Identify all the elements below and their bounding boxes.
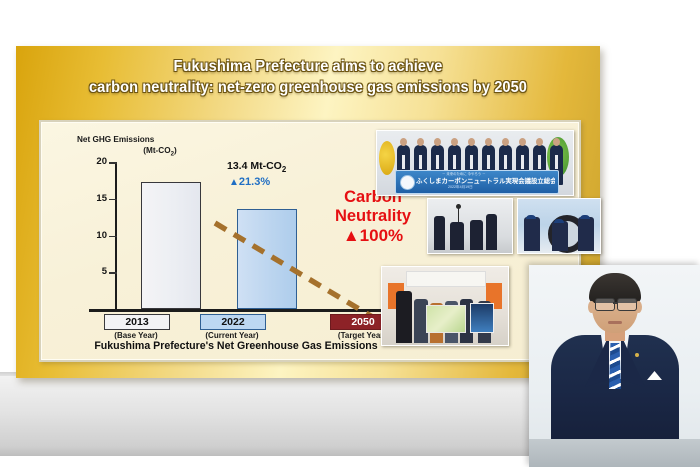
x-category-2022: 2022 <box>200 314 266 330</box>
y-axis-label-line1: Net GHG Emissions <box>77 134 237 145</box>
wall-banner <box>406 271 486 287</box>
speaker-mouth <box>608 321 622 324</box>
page-title: Fukushima Prefecture aims to achieve car… <box>34 56 583 98</box>
photo-person <box>396 291 412 343</box>
x-category-2013: 2013 <box>104 314 170 330</box>
hard-hat-icon <box>554 219 564 223</box>
photo-person <box>524 217 540 251</box>
carbon-neutrality-callout: Carbon Neutrality ▲100% <box>319 188 427 245</box>
speaker-tie <box>609 343 621 389</box>
y-tick-label-15: 15 <box>75 193 107 204</box>
y-tick-5 <box>109 272 117 274</box>
callout-line-3: ▲100% <box>319 226 427 245</box>
speaker-video-overlay[interactable] <box>529 265 700 467</box>
hard-hat-icon <box>580 215 590 219</box>
reduction-badge-2022: ▲21.3% <box>229 176 349 188</box>
slide-header: Fukushima Prefecture aims to achieve car… <box>16 46 600 114</box>
speaker-desk <box>529 439 700 467</box>
chart-caption: Fukushima Prefecture's Net Greenhouse Ga… <box>47 340 425 352</box>
y-tick-15 <box>109 199 117 201</box>
y-tick-10 <box>109 236 117 238</box>
lapel-pin-icon <box>635 353 639 357</box>
photo-person <box>552 221 568 251</box>
value-label-2022: 13.4 Mt-CO2 <box>227 160 357 174</box>
bar-2022 <box>237 209 297 310</box>
tire-inspection-photo <box>517 198 601 254</box>
y-tick-label-10: 10 <box>75 230 107 241</box>
presentation-stage: Fukushima Prefecture aims to achieve car… <box>0 0 700 467</box>
photo-person <box>470 220 483 250</box>
eyeglasses-bridge-icon <box>613 302 618 304</box>
title-line-2: carbon neutrality: net-zero greenhouse g… <box>34 77 583 98</box>
students-map-photo <box>381 266 509 346</box>
presentation-poster <box>470 303 494 333</box>
y-tick-label-20: 20 <box>75 156 107 167</box>
event-banner-title: ふくしまカーボンニュートラル実現会議設立総会 <box>416 176 555 185</box>
event-banner-date: 2022年4月19日 <box>448 185 473 190</box>
award-ceremony-photo <box>427 198 513 254</box>
photo-person <box>434 216 445 250</box>
photo-person <box>450 222 464 250</box>
hard-hat-icon <box>526 215 536 219</box>
y-tick-20 <box>109 162 117 164</box>
event-banner: － 未来のために 今やろう － ふくしまカーボンニュートラル実現会議設立総会 2… <box>395 170 559 194</box>
callout-line-2: Neutrality <box>319 207 427 226</box>
x-axis <box>89 309 399 312</box>
map-poster <box>426 305 466 333</box>
content-panel: Net GHG Emissions (Mt-CO2) 20 15 10 5 <box>39 120 581 362</box>
photo-person <box>486 214 497 250</box>
event-logo-icon <box>400 175 415 190</box>
bar-2013 <box>141 182 201 309</box>
eyeglasses-left-lens-icon <box>595 298 615 311</box>
title-line-1: Fukushima Prefecture aims to achieve <box>34 56 583 77</box>
eyeglasses-right-lens-icon <box>617 298 637 311</box>
speaker-ear-left <box>588 301 595 313</box>
photo-person <box>578 217 594 251</box>
officials-group-photo: － 未来のために 今やろう － ふくしまカーボンニュートラル実現会議設立総会 2… <box>376 130 574 196</box>
yellow-balloon-decor <box>379 141 395 175</box>
y-tick-label-5: 5 <box>75 266 107 277</box>
slide: Fukushima Prefecture aims to achieve car… <box>16 46 600 378</box>
